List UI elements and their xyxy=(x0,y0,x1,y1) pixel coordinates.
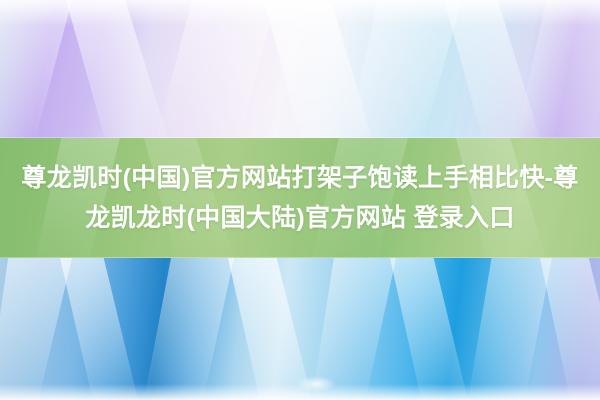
headline-text-block: 尊龙凯时(中国)官方网站打架子饱读上手相比快-尊 龙凯龙时(中国大陆)官方网站 … xyxy=(0,138,600,258)
decorative-banner: 尊龙凯时(中国)官方网站打架子饱读上手相比快-尊 龙凯龙时(中国大陆)官方网站 … xyxy=(0,0,600,400)
headline-line-1: 尊龙凯时(中国)官方网站打架子饱读上手相比快-尊 xyxy=(21,158,578,198)
facet-shape xyxy=(468,258,552,400)
headline-line-2: 龙凯龙时(中国大陆)官方网站 登录入口 xyxy=(85,198,514,238)
facet-shape xyxy=(390,258,468,400)
facet-shape xyxy=(144,258,234,400)
facet-shape xyxy=(0,258,72,400)
top-gradient-band xyxy=(0,0,600,138)
facet-shape xyxy=(540,258,600,400)
bottom-gradient-band xyxy=(0,258,600,400)
top-glow-overlay xyxy=(0,0,600,26)
facet-shape xyxy=(60,258,138,400)
headline-band: 尊龙凯时(中国)官方网站打架子饱读上手相比快-尊 龙凯龙时(中国大陆)官方网站 … xyxy=(0,138,600,258)
bottom-fade-overlay xyxy=(0,384,600,400)
